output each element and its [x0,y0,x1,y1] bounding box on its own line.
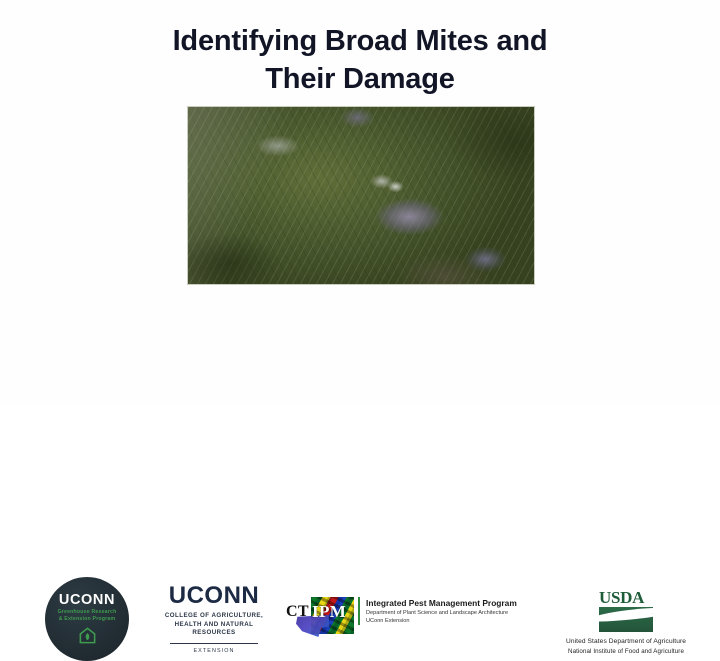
usda-department-line: United States Department of Agriculture [551,637,701,647]
usda-institute-line: National Institute of Food and Agricultu… [551,647,701,656]
greenhouse-badge-wordmark: UCONN [59,593,115,607]
ct-ipm-mark: CT IPM [286,597,354,637]
greenhouse-badge-subtitle-line-1: Greenhouse Research [50,609,124,616]
broad-mite-photo-image [188,107,534,284]
ct-ipm-extension: UConn Extension [366,617,517,625]
presentation-slide: Identifying Broad Mites and Their Damage… [0,0,720,404]
uconn-greenhouse-badge-logo: UCONN Greenhouse Research & Extension Pr… [45,577,129,661]
usda-logo: USDA United States Department of Agricul… [551,589,701,656]
cahnr-wordmark: UCONN [152,584,276,608]
ct-ipm-department: Department of Plant Science and Landscap… [366,609,517,617]
usda-wordmark: USDA [599,589,653,606]
cahnr-divider [170,643,258,645]
ct-ipm-ipm-text: IPM [312,602,346,622]
greenhouse-icon [78,626,97,645]
slide-title-line-2: Their Damage [0,60,720,98]
broad-mite-photo [188,107,534,284]
cahnr-extension-label: EXTENSION [152,648,276,654]
usda-mark: USDA [599,589,653,632]
ct-ipm-logo: CT IPM Integrated Pest Management Progra… [286,597,517,637]
ct-ipm-text-block: Integrated Pest Management Program Depar… [358,597,517,625]
usda-landscape-icon [599,607,653,632]
ct-ipm-program-title: Integrated Pest Management Program [366,598,517,609]
greenhouse-badge-subtitle-line-2: & Extension Program [50,616,124,623]
uconn-cahnr-logo: UCONN COLLEGE OF AGRICULTURE, HEALTH AND… [152,584,276,654]
sponsor-logo-bar: UCONN Greenhouse Research & Extension Pr… [0,286,720,386]
cahnr-line-2: HEALTH AND NATURAL [152,621,276,630]
slide-title-line-1: Identifying Broad Mites and [0,22,720,60]
slide-title: Identifying Broad Mites and Their Damage [0,22,720,98]
cahnr-line-3: RESOURCES [152,629,276,638]
cahnr-line-1: COLLEGE OF AGRICULTURE, [152,612,276,621]
